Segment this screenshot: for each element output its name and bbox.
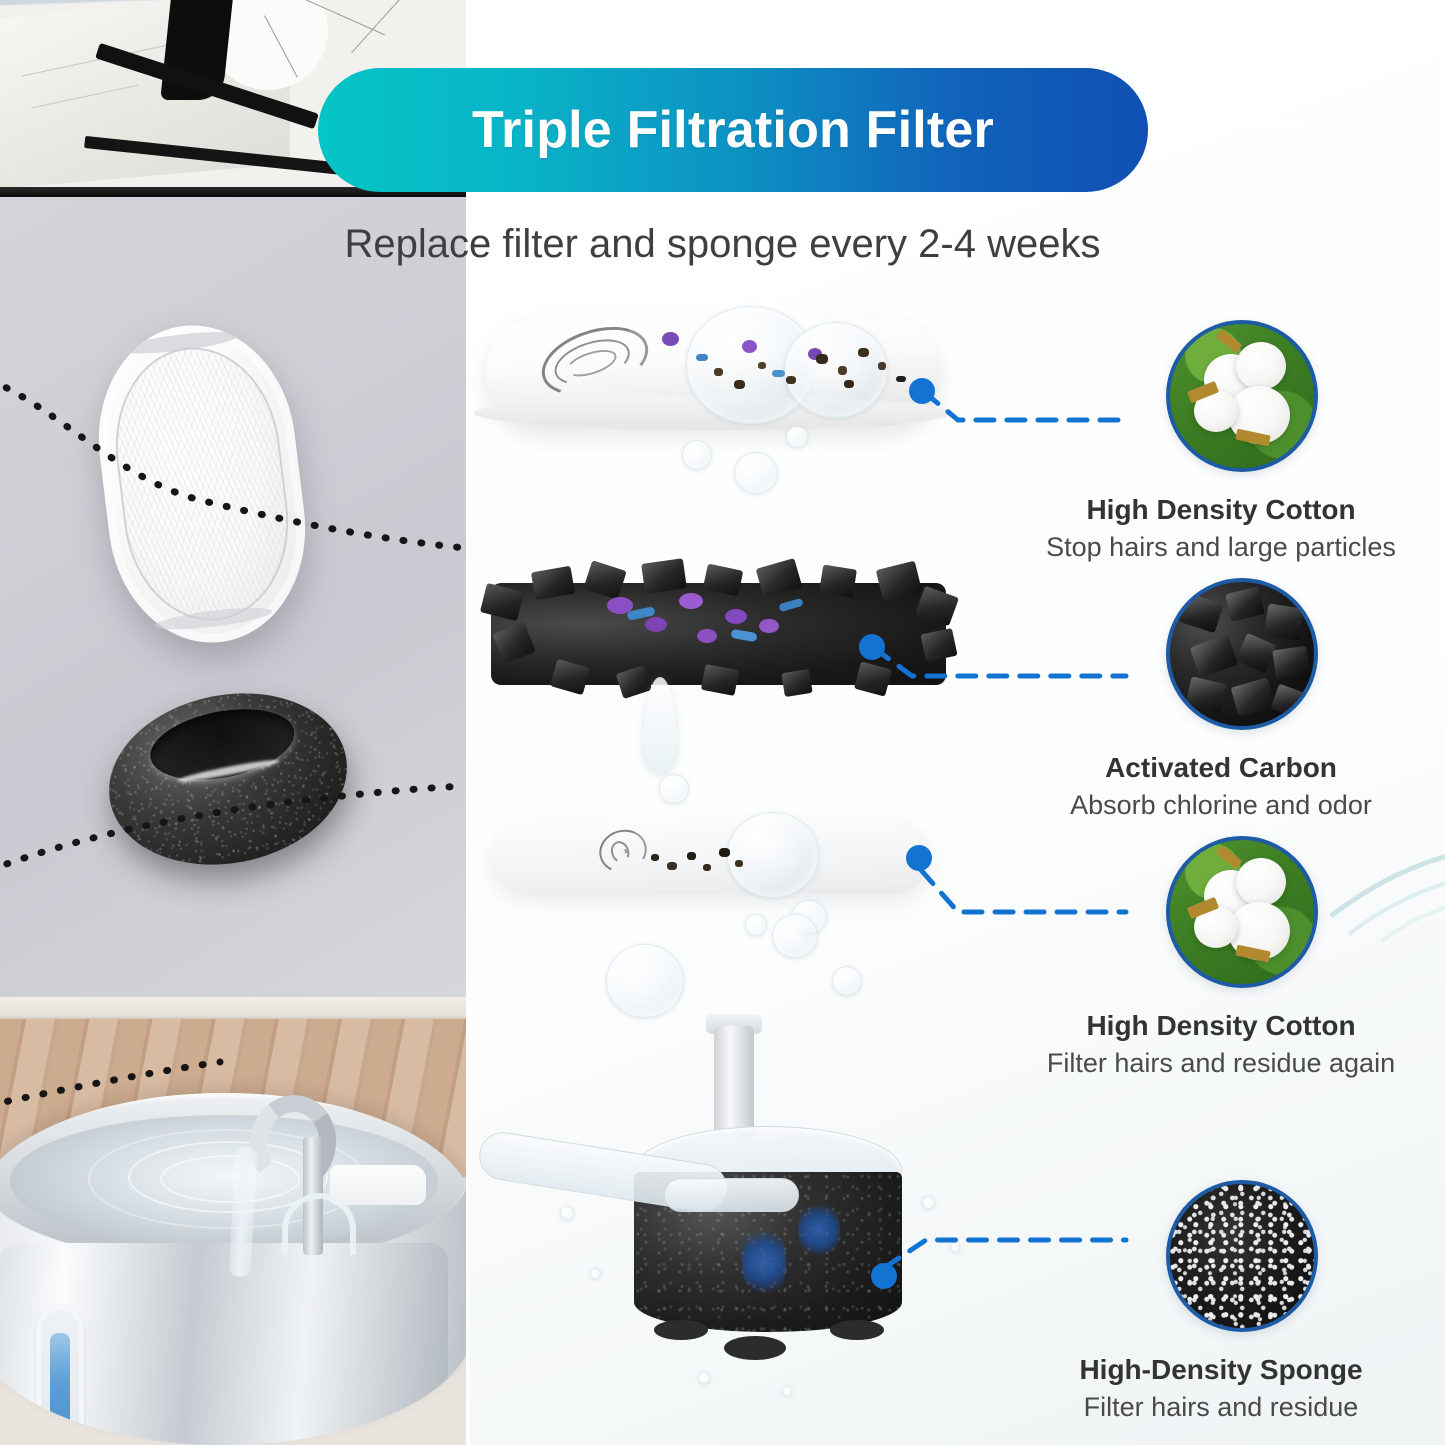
info-title: High Density Cotton — [1011, 494, 1431, 526]
filter-layer-cotton-bottom-illustration — [491, 818, 941, 928]
left-photo-column — [0, 0, 466, 1445]
suction-cup — [724, 1336, 786, 1360]
carbon-granule — [1185, 676, 1227, 713]
info-desc: Stop hairs and large particles — [1011, 532, 1431, 563]
carbon-granule — [1264, 603, 1305, 640]
water-level-window — [36, 1305, 84, 1445]
carbon-chunk — [819, 565, 857, 598]
cotton-boll-shape — [1236, 858, 1286, 906]
debris-particle — [734, 380, 745, 389]
debris-particle — [838, 366, 847, 375]
water-bubble — [659, 774, 689, 804]
carbon-chunk — [781, 669, 812, 697]
debris-particle — [786, 376, 796, 384]
water-bubble — [772, 914, 818, 958]
water-bubble — [734, 452, 778, 494]
thumb-activated-carbon-icon — [1166, 578, 1318, 730]
debris-particle — [703, 864, 711, 871]
debris-particle — [651, 854, 659, 861]
bacteria-particle — [742, 340, 757, 353]
sponge-ring-body — [94, 674, 362, 885]
thumb-cotton-boll-icon — [1166, 320, 1318, 472]
carbon-granule — [1235, 633, 1276, 673]
carbon-granule — [1225, 586, 1265, 621]
bacteria-particle — [725, 609, 747, 624]
bacteria-particle — [759, 619, 779, 633]
connector-dot-carbon — [859, 634, 885, 660]
suction-cup — [830, 1320, 884, 1340]
subtitle-text: Replace filter and sponge every 2-4 week… — [0, 222, 1445, 267]
debris-particle — [687, 852, 696, 860]
connector-dot-sponge — [871, 1263, 897, 1289]
debris-particle — [844, 380, 854, 388]
blue-fiber-patch — [742, 1226, 786, 1298]
water-bubble — [784, 322, 888, 418]
carbon-granule — [1270, 684, 1307, 719]
debris-particle — [896, 376, 906, 382]
water-bubble — [606, 944, 684, 1018]
fountain-pump-cover — [330, 1165, 426, 1205]
suction-cup — [654, 1320, 708, 1340]
water-bubble — [682, 440, 712, 470]
water-bubble — [745, 914, 767, 936]
carbon-granule — [1231, 677, 1276, 716]
carbon-chunk — [641, 558, 687, 594]
debris-particle — [714, 368, 723, 376]
connector-dot-cotton-bottom — [906, 845, 932, 871]
cotton-husk-shape — [1216, 329, 1243, 353]
info-title: Activated Carbon — [1011, 752, 1431, 784]
blue-fiber-patch — [798, 1202, 840, 1258]
info-block-high-density-cotton-bottom: High Density Cotton Filter hairs and res… — [1011, 836, 1431, 1076]
water-bubble — [727, 812, 819, 898]
info-title: High-Density Sponge — [1011, 1354, 1431, 1386]
left-products-area — [0, 197, 466, 997]
black-foam-sponge-ring — [94, 674, 362, 885]
water-bubble — [832, 966, 862, 996]
debris-particle — [735, 860, 743, 867]
carbon-granule — [1178, 593, 1223, 633]
info-desc: Filter hairs and residue — [1011, 1392, 1431, 1423]
carbon-granule — [1272, 646, 1310, 678]
water-droplet — [643, 677, 677, 773]
water-bubble — [560, 1206, 574, 1220]
cotton-pad-slab — [491, 818, 931, 894]
debris-particle — [719, 848, 730, 857]
carbon-chunk — [701, 664, 739, 696]
filter-layer-carbon-illustration — [491, 565, 961, 725]
info-title: High Density Cotton — [1011, 1010, 1431, 1042]
pump-connector-tube — [664, 1178, 799, 1212]
carbon-granule — [1190, 634, 1239, 678]
filter-layer-cotton-top-illustration — [486, 318, 956, 448]
connector-dot-cotton-top — [909, 378, 935, 404]
info-desc: Absorb chlorine and odor — [1011, 790, 1431, 821]
info-block-activated-carbon: Activated Carbon Absorb chlorine and odo… — [1011, 578, 1431, 818]
bacteria-particle — [697, 629, 717, 643]
title-banner: Triple Filtration Filter — [318, 68, 1148, 192]
water-bubble — [590, 1268, 601, 1279]
infographic-root: High Density Cotton Stop hairs and large… — [0, 0, 1445, 1445]
main-panel: High Density Cotton Stop hairs and large… — [466, 0, 1445, 1445]
debris-particle — [758, 362, 766, 369]
bacteria-particle — [772, 370, 785, 377]
cotton-husk-shape — [1216, 845, 1243, 869]
water-bubble — [786, 426, 808, 448]
info-block-high-density-cotton-top: High Density Cotton Stop hairs and large… — [1011, 320, 1431, 560]
debris-particle — [667, 862, 677, 870]
white-oval-cotton-filter-pad — [85, 314, 318, 654]
water-bubble — [922, 1196, 935, 1209]
pump-with-sponge-illustration — [546, 1000, 1026, 1420]
water-bubble — [698, 1372, 710, 1384]
info-desc: Filter hairs and residue again — [1011, 1048, 1431, 1079]
bacteria-particle — [645, 617, 667, 632]
water-bubble — [950, 1242, 960, 1252]
debris-particle — [816, 354, 828, 364]
thumb-cotton-boll-icon — [1166, 836, 1318, 988]
info-block-high-density-sponge: High-Density Sponge Filter hairs and res… — [1011, 1180, 1431, 1420]
banner-title-text: Triple Filtration Filter — [472, 100, 994, 160]
cotton-boll-shape — [1236, 342, 1286, 390]
water-bubble — [782, 1386, 792, 1396]
bacteria-particle — [696, 354, 708, 361]
pump-stem — [714, 1026, 754, 1138]
bacteria-particle — [662, 332, 679, 346]
bacteria-particle — [679, 593, 703, 609]
thumb-sponge-icon — [1166, 1180, 1318, 1332]
debris-particle — [878, 362, 886, 370]
stainless-steel-pet-water-fountain-photo — [0, 997, 466, 1445]
water-level-indicator — [50, 1333, 70, 1445]
carbon-chunk — [920, 628, 957, 662]
debris-particle — [858, 348, 869, 357]
panel-divider — [466, 190, 470, 1445]
